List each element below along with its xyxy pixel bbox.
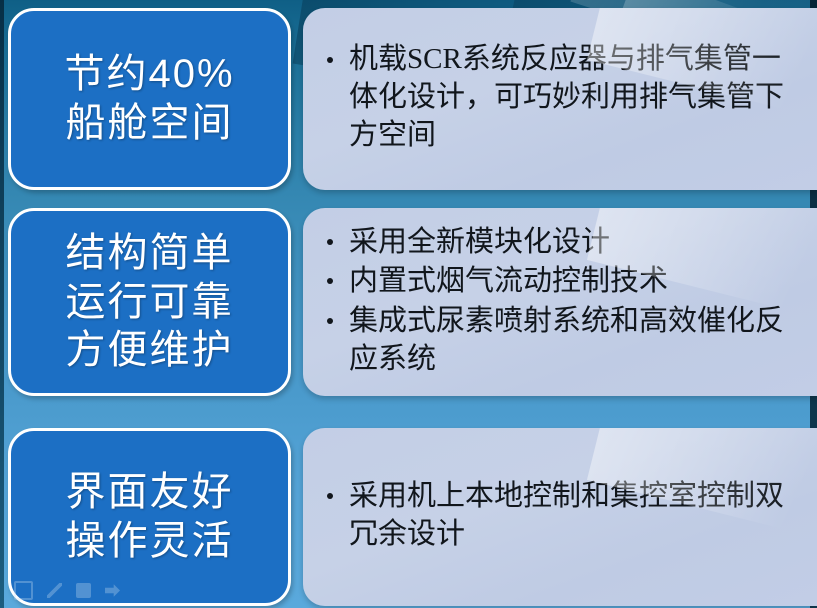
feature-label-line: 运行可靠 <box>66 278 234 327</box>
bullet-dot-icon <box>327 57 333 63</box>
feature-row: 界面友好 操作灵活 采用机上本地控制和集控室控制双冗余设计 <box>0 428 817 606</box>
bullet-text: 机载SCR系统反应器与排气集管一体化设计，可巧妙利用排气集管下方空间 <box>349 43 784 150</box>
next-arrow-icon[interactable] <box>105 583 120 598</box>
feature-content-panel: 采用机上本地控制和集控室控制双冗余设计 <box>303 428 817 606</box>
bullet-text: 采用机上本地控制和集控室控制双冗余设计 <box>349 480 784 550</box>
list-item: 机载SCR系统反应器与排气集管一体化设计，可巧妙利用排气集管下方空间 <box>321 41 803 154</box>
feature-label-line: 方便维护 <box>66 326 234 375</box>
bullet-text: 集成式尿素喷射系统和高效催化反应系统 <box>349 305 784 375</box>
bullet-list: 采用机上本地控制和集控室控制双冗余设计 <box>321 478 803 555</box>
presentation-slide: 节约40% 船舱空间 机载SCR系统反应器与排气集管一体化设计，可巧妙利用排气集… <box>0 0 817 608</box>
bullet-dot-icon <box>327 493 333 499</box>
feature-label-line: 船舱空间 <box>66 99 234 148</box>
feature-label-line: 节约40% <box>64 50 234 99</box>
list-item: 集成式尿素喷射系统和高效催化反应系统 <box>321 303 803 378</box>
feature-row: 结构简单 运行可靠 方便维护 采用全新模块化设计 内置式烟气流动控制技术 集成式… <box>0 208 817 396</box>
pen-icon[interactable] <box>47 583 62 598</box>
feature-content-panel: 机载SCR系统反应器与排气集管一体化设计，可巧妙利用排气集管下方空间 <box>303 8 817 190</box>
bullet-text: 采用全新模块化设计 <box>349 226 610 258</box>
bullet-list: 采用全新模块化设计 内置式烟气流动控制技术 集成式尿素喷射系统和高效催化反应系统 <box>321 224 803 381</box>
screen-icon[interactable] <box>76 583 91 598</box>
slides-icon[interactable] <box>14 581 33 600</box>
feature-label-line: 操作灵活 <box>66 517 234 566</box>
feature-label-box: 节约40% 船舱空间 <box>8 8 291 190</box>
feature-content-panel: 采用全新模块化设计 内置式烟气流动控制技术 集成式尿素喷射系统和高效催化反应系统 <box>303 208 817 396</box>
feature-row: 节约40% 船舱空间 机载SCR系统反应器与排气集管一体化设计，可巧妙利用排气集… <box>0 8 817 190</box>
presentation-controls[interactable] <box>14 581 120 600</box>
feature-label-line: 结构简单 <box>66 229 234 278</box>
bullet-dot-icon <box>327 318 333 324</box>
feature-label-box: 结构简单 运行可靠 方便维护 <box>8 208 291 396</box>
list-item: 内置式烟气流动控制技术 <box>321 263 803 301</box>
list-item: 采用全新模块化设计 <box>321 224 803 262</box>
feature-label-line: 界面友好 <box>66 468 234 517</box>
bullet-dot-icon <box>327 239 333 245</box>
feature-label-box: 界面友好 操作灵活 <box>8 428 291 606</box>
bullet-dot-icon <box>327 278 333 284</box>
list-item: 采用机上本地控制和集控室控制双冗余设计 <box>321 478 803 553</box>
bullet-list: 机载SCR系统反应器与排气集管一体化设计，可巧妙利用排气集管下方空间 <box>321 41 803 156</box>
bullet-text: 内置式烟气流动控制技术 <box>349 265 668 297</box>
